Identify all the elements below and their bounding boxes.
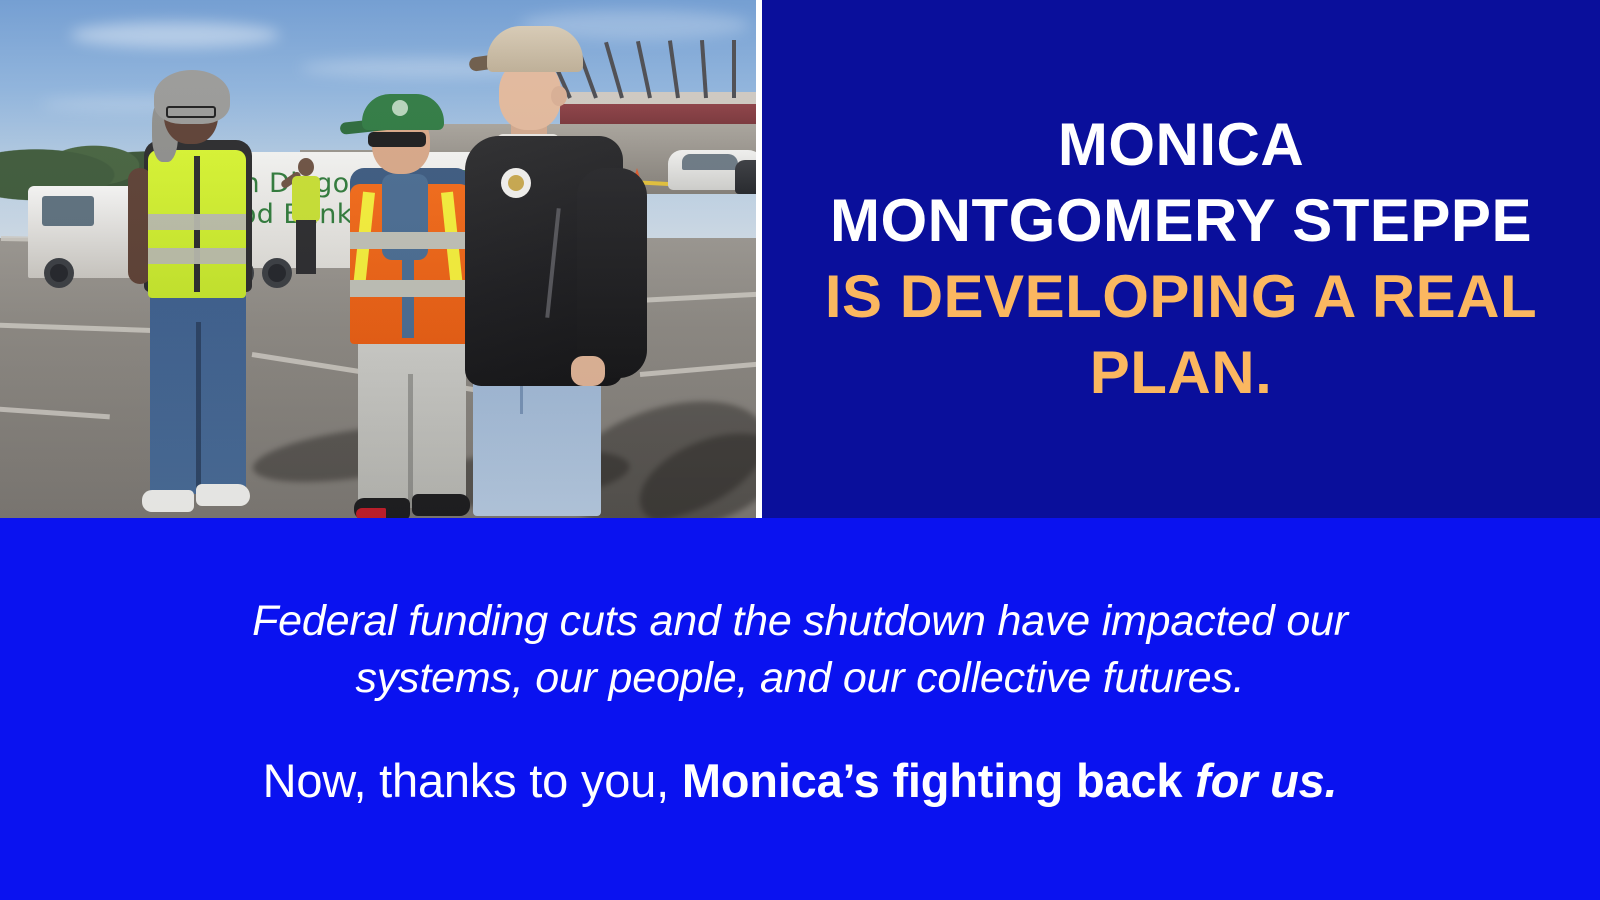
headline-line-1: MONICA bbox=[788, 107, 1574, 183]
photo-scene: San Diego Food Bank Fighting Hunger Buil… bbox=[0, 0, 756, 518]
reflective-stripe bbox=[148, 214, 246, 230]
stadium-mast bbox=[756, 40, 762, 98]
suv-window bbox=[682, 154, 738, 170]
headline-line-3: IS DEVELOPING A REAL bbox=[788, 259, 1574, 335]
stadium-mast bbox=[732, 40, 736, 98]
volunteer-vest bbox=[292, 176, 320, 222]
person-ear bbox=[551, 86, 567, 106]
kicker-lead: Now, thanks to you, bbox=[263, 754, 682, 807]
vest-opening bbox=[402, 188, 414, 338]
kicker-emphasis-italic: for us. bbox=[1195, 754, 1337, 807]
sneaker-accent bbox=[356, 508, 386, 518]
headline-panel: MONICA MONTGOMERY STEPPE IS DEVELOPING A… bbox=[762, 0, 1600, 518]
headline-line-4: PLAN. bbox=[788, 335, 1574, 411]
top-section: San Diego Food Bank Fighting Hunger Buil… bbox=[0, 0, 1600, 518]
parked-dark-car bbox=[735, 160, 762, 194]
person-shoe bbox=[142, 490, 194, 512]
truck-wheel bbox=[44, 258, 74, 288]
person-yellow-vest bbox=[120, 72, 280, 512]
kicker-line: Now, thanks to you, Monica’s fighting ba… bbox=[263, 751, 1338, 811]
volunteer-legs bbox=[296, 220, 316, 274]
leg-seam bbox=[408, 374, 413, 508]
sunglasses bbox=[368, 132, 426, 147]
background-volunteer bbox=[286, 158, 326, 278]
person-shoe bbox=[196, 484, 250, 506]
reflective-stripe bbox=[148, 248, 246, 264]
reflective-stripe bbox=[350, 232, 470, 249]
cap-logo bbox=[392, 100, 408, 116]
campaign-ad-graphic: San Diego Food Bank Fighting Hunger Buil… bbox=[0, 0, 1600, 900]
person-arm bbox=[577, 168, 647, 378]
message-panel: Federal funding cuts and the shutdown ha… bbox=[0, 518, 1600, 900]
volunteer-head bbox=[298, 158, 314, 176]
kicker-emphasis: Monica’s fighting back bbox=[682, 754, 1195, 807]
truck-cab-window bbox=[42, 196, 94, 226]
reflective-stripe bbox=[350, 280, 470, 297]
jacket-patch-inner bbox=[508, 175, 524, 191]
eyeglasses bbox=[166, 106, 216, 118]
person-hand bbox=[571, 356, 605, 386]
campaign-photo: San Diego Food Bank Fighting Hunger Buil… bbox=[0, 0, 762, 518]
headline-text: MONICA MONTGOMERY STEPPE IS DEVELOPING A… bbox=[788, 107, 1574, 411]
leg-seam bbox=[196, 322, 201, 494]
tan-trucker-cap bbox=[487, 26, 583, 72]
person-black-jacket bbox=[455, 18, 655, 518]
headline-line-2: MONTGOMERY STEPPE bbox=[788, 183, 1574, 259]
cloud bbox=[70, 22, 280, 48]
body-paragraph: Federal funding cuts and the shutdown ha… bbox=[170, 593, 1430, 707]
